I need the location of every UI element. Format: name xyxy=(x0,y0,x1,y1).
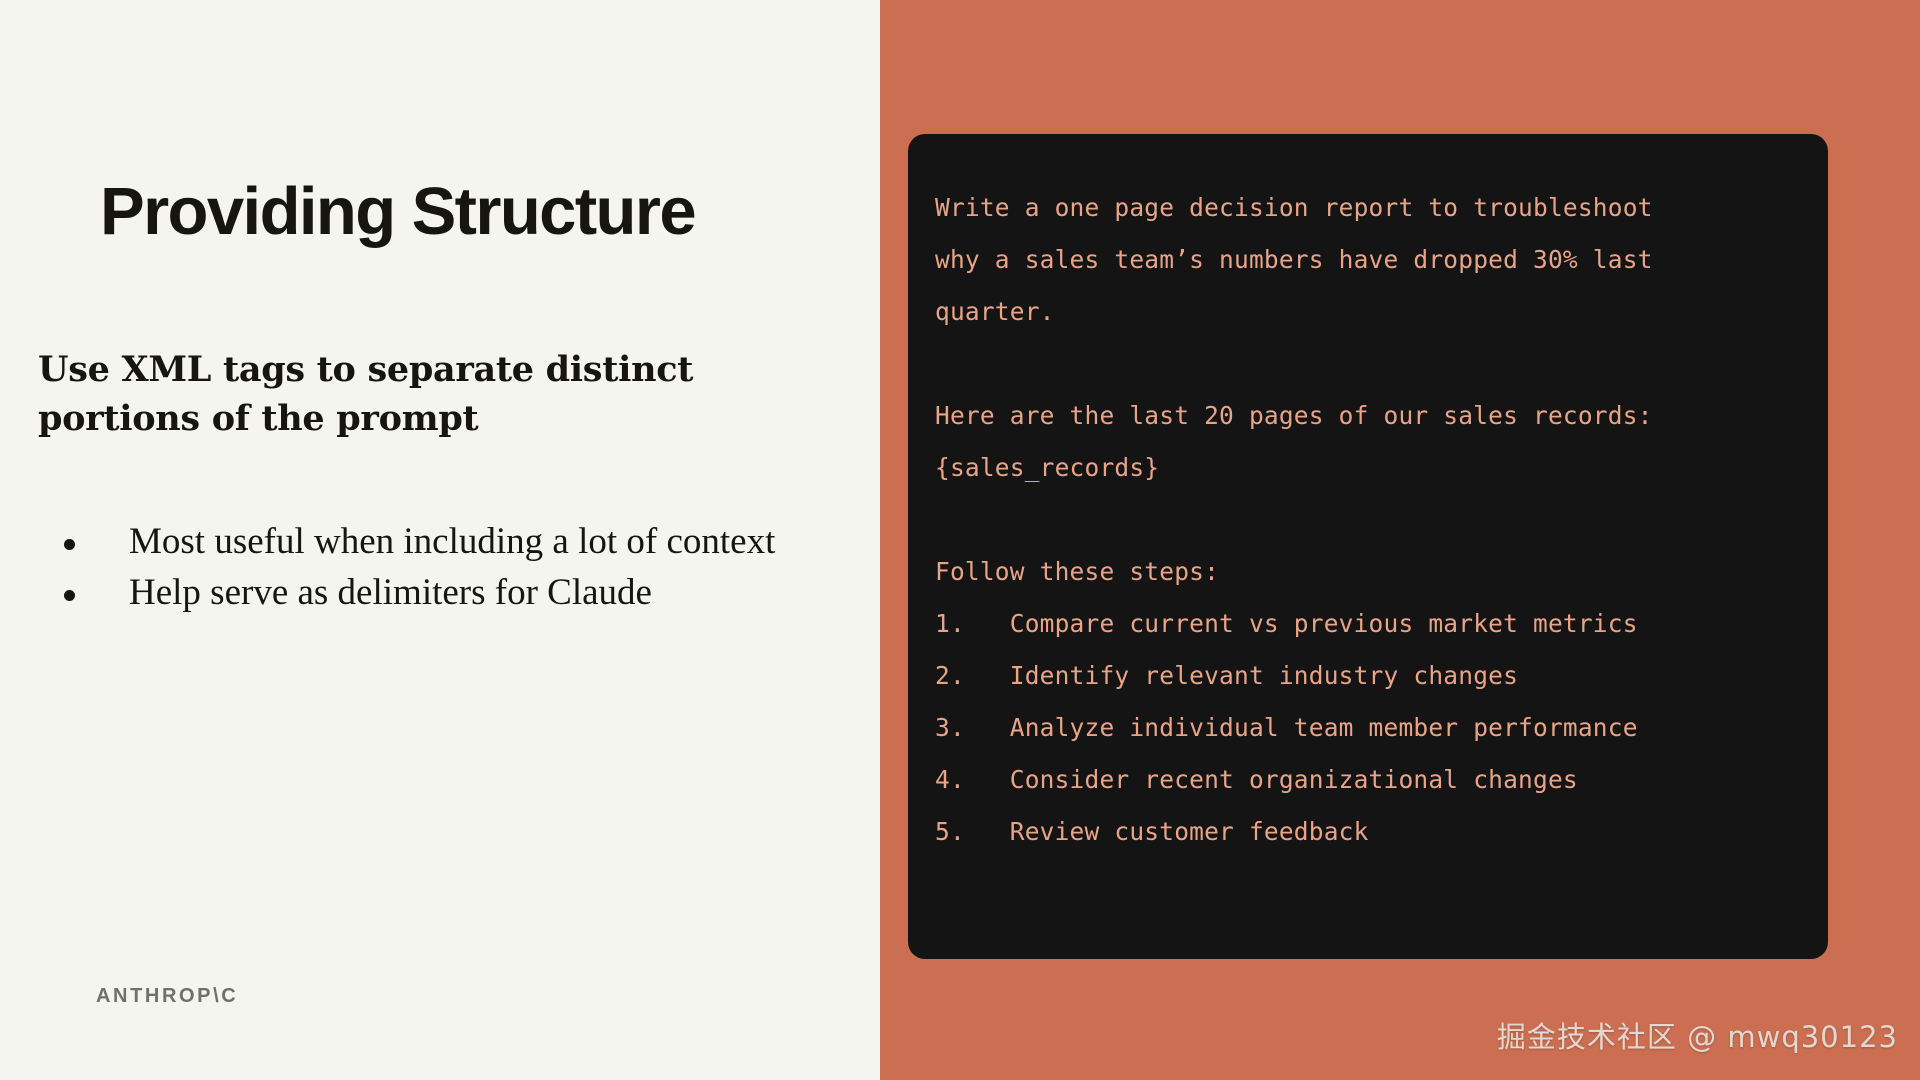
code-blank-line xyxy=(935,494,1808,546)
slide-root: Providing Structure Use XML tags to sepa… xyxy=(0,0,1920,1080)
code-block-content: Write a one page decision report to trou… xyxy=(935,182,1808,858)
list-item: Most useful when including a lot of cont… xyxy=(38,518,848,566)
anthropic-logo: ANTHROP\C xyxy=(96,985,238,1008)
code-block-card: Write a one page decision report to trou… xyxy=(908,134,1828,959)
code-line: 3. Analyze individual team member perfor… xyxy=(935,702,1808,754)
watermark-text: 掘金技术社区 @ mwq30123 xyxy=(1497,1014,1898,1056)
bullet-dot-icon xyxy=(64,590,75,601)
list-item-label: Most useful when including a lot of cont… xyxy=(129,518,848,566)
bullet-list: Most useful when including a lot of cont… xyxy=(38,518,848,620)
code-line: Write a one page decision report to trou… xyxy=(935,182,1808,234)
slide-subtitle: Use XML tags to separate distinct portio… xyxy=(38,345,778,443)
code-line: why a sales team’s numbers have dropped … xyxy=(935,234,1808,286)
code-line: {sales_records} xyxy=(935,442,1808,494)
left-content-panel: Providing Structure Use XML tags to sepa… xyxy=(0,0,880,1080)
right-accent-panel: Write a one page decision report to trou… xyxy=(880,0,1920,1080)
code-line: Follow these steps: xyxy=(935,546,1808,598)
code-line: 4. Consider recent organizational change… xyxy=(935,754,1808,806)
list-item-label: Help serve as delimiters for Claude xyxy=(129,569,848,617)
code-line: 5. Review customer feedback xyxy=(935,806,1808,858)
code-line: Here are the last 20 pages of our sales … xyxy=(935,390,1808,442)
code-line: quarter. xyxy=(935,286,1808,338)
page-title: Providing Structure xyxy=(100,178,695,245)
code-line: 2. Identify relevant industry changes xyxy=(935,650,1808,702)
list-item: Help serve as delimiters for Claude xyxy=(38,569,848,617)
code-blank-line xyxy=(935,338,1808,390)
code-line: 1. Compare current vs previous market me… xyxy=(935,598,1808,650)
bullet-dot-icon xyxy=(64,539,75,550)
